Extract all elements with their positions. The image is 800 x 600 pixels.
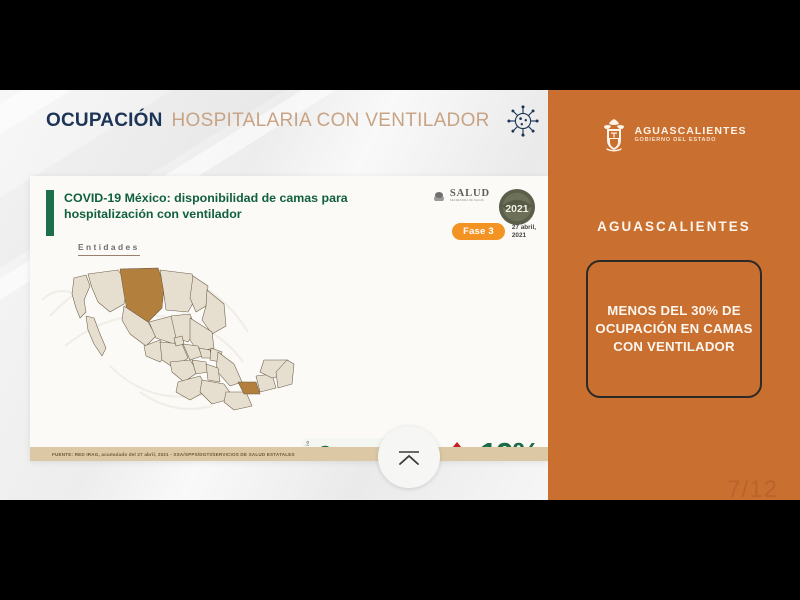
seal-year-label: 2021 bbox=[505, 204, 528, 215]
screenshot-stage: OCUPACIÓN HOSPITALARIA CON VENTILADOR bbox=[0, 0, 800, 600]
state-message-text: MENOS DEL 30% DE OCUPACIÓN EN CAMAS CON … bbox=[594, 302, 754, 357]
salud-logo-subtitle: SECRETARÍA DE SALUD bbox=[450, 200, 490, 203]
mexico-map bbox=[66, 260, 298, 426]
page-number: 7/12 bbox=[727, 476, 778, 500]
header-title-light: HOSPITALARIA CON VENTILADOR bbox=[172, 110, 490, 132]
section-label-entidades: Entidades bbox=[78, 242, 140, 256]
state-info-panel: AGUASCALIENTES GOBIERNO DEL ESTADO AGUAS… bbox=[548, 90, 800, 500]
presentation-slide: COVID-19 México: disponibilidad de camas… bbox=[30, 176, 548, 461]
aguascalientes-crest-icon bbox=[601, 118, 627, 152]
seal-2021-icon: 2021 bbox=[498, 188, 536, 226]
government-logo: AGUASCALIENTES GOBIERNO DEL ESTADO bbox=[548, 118, 800, 152]
state-name-heading: AGUASCALIENTES bbox=[548, 219, 800, 234]
slide-date-line1: 27 abril, bbox=[512, 224, 536, 231]
salud-logo: SALUD SECRETARÍA DE SALUD bbox=[432, 188, 490, 204]
slide-date: 27 abril, 2021 bbox=[512, 224, 536, 240]
slide-logos: SALUD SECRETARÍA DE SALUD 2021 bbox=[432, 188, 536, 226]
slide-source-bar: FUENTE: RED IRAG, acumulado del 27 abril… bbox=[30, 447, 548, 461]
state-message-box: MENOS DEL 30% DE OCUPACIÓN EN CAMAS CON … bbox=[586, 260, 762, 398]
government-logo-line1: AGUASCALIENTES bbox=[634, 126, 746, 137]
collapse-panel-button[interactable] bbox=[378, 426, 440, 488]
government-logo-text: AGUASCALIENTES GOBIERNO DEL ESTADO bbox=[634, 126, 746, 144]
slide-date-line2: 2021 bbox=[512, 232, 526, 239]
mexico-eagle-icon bbox=[432, 188, 446, 204]
slide-source-text: FUENTE: RED IRAG, acumulado del 27 abril… bbox=[52, 452, 295, 457]
slide-region: OCUPACIÓN HOSPITALARIA CON VENTILADOR bbox=[0, 90, 548, 500]
broadcast-header: OCUPACIÓN HOSPITALARIA CON VENTILADOR bbox=[0, 90, 548, 152]
salud-logo-name: SALUD bbox=[450, 189, 490, 200]
coronavirus-icon bbox=[507, 105, 539, 137]
slide-accent-rule bbox=[46, 190, 54, 236]
phase-badge: Fase 3 bbox=[452, 223, 505, 240]
slide-title: COVID-19 México: disponibilidad de camas… bbox=[64, 190, 364, 223]
chevron-up-collapse-icon bbox=[396, 447, 422, 467]
mexico-map-svg bbox=[66, 260, 298, 426]
phase-row: Fase 3 27 abril, 2021 bbox=[452, 223, 536, 240]
government-logo-line2: GOBIERNO DEL ESTADO bbox=[634, 138, 746, 144]
broadcast-frame: OCUPACIÓN HOSPITALARIA CON VENTILADOR bbox=[0, 90, 800, 500]
header-title-bold: OCUPACIÓN bbox=[46, 110, 163, 132]
